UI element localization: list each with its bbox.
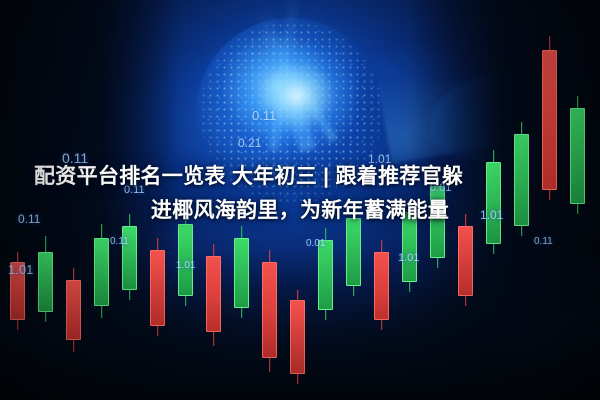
floating-number-label: 1.01 [176, 260, 195, 271]
candlestick [290, 290, 305, 384]
candlestick [94, 224, 109, 318]
candle-body [346, 218, 361, 286]
candle-body [150, 250, 165, 326]
candlestick [66, 268, 81, 352]
promo-banner: 0.110.210.111.010.110.011.010.111.010.11… [0, 0, 600, 400]
candle-body [206, 256, 221, 332]
floating-number-label: 0.11 [534, 236, 553, 247]
candlestick [206, 244, 221, 346]
candle-body [290, 300, 305, 374]
floating-number-label: 0.11 [110, 236, 129, 247]
candle-body [374, 252, 389, 320]
candlestick [374, 240, 389, 330]
candle-body [66, 280, 81, 340]
floating-number-label: 0.21 [238, 136, 261, 150]
candle-body [262, 262, 277, 358]
candle-body [458, 226, 473, 296]
candlestick [150, 238, 165, 336]
candlestick [38, 236, 53, 322]
headline-line-1: 配资平台排名一览表 大年初三 | 跟着推荐官躲 [16, 160, 584, 194]
candle-body [318, 240, 333, 310]
candle-body [234, 238, 249, 308]
floating-number-label: 1.01 [398, 252, 419, 264]
floating-number-label: 0.11 [252, 108, 276, 123]
candlestick [234, 226, 249, 318]
floating-number-label: 1.01 [8, 262, 33, 277]
candle-body [94, 238, 109, 306]
candlestick [262, 250, 277, 372]
candle-body [38, 252, 53, 312]
floating-number-label: 0.01 [306, 238, 325, 249]
headline-text: 配资平台排名一览表 大年初三 | 跟着推荐官躲 进椰风海韵里，为新年蓄满能量 [16, 160, 584, 228]
headline-line-2: 进椰风海韵里，为新年蓄满能量 [16, 194, 584, 228]
